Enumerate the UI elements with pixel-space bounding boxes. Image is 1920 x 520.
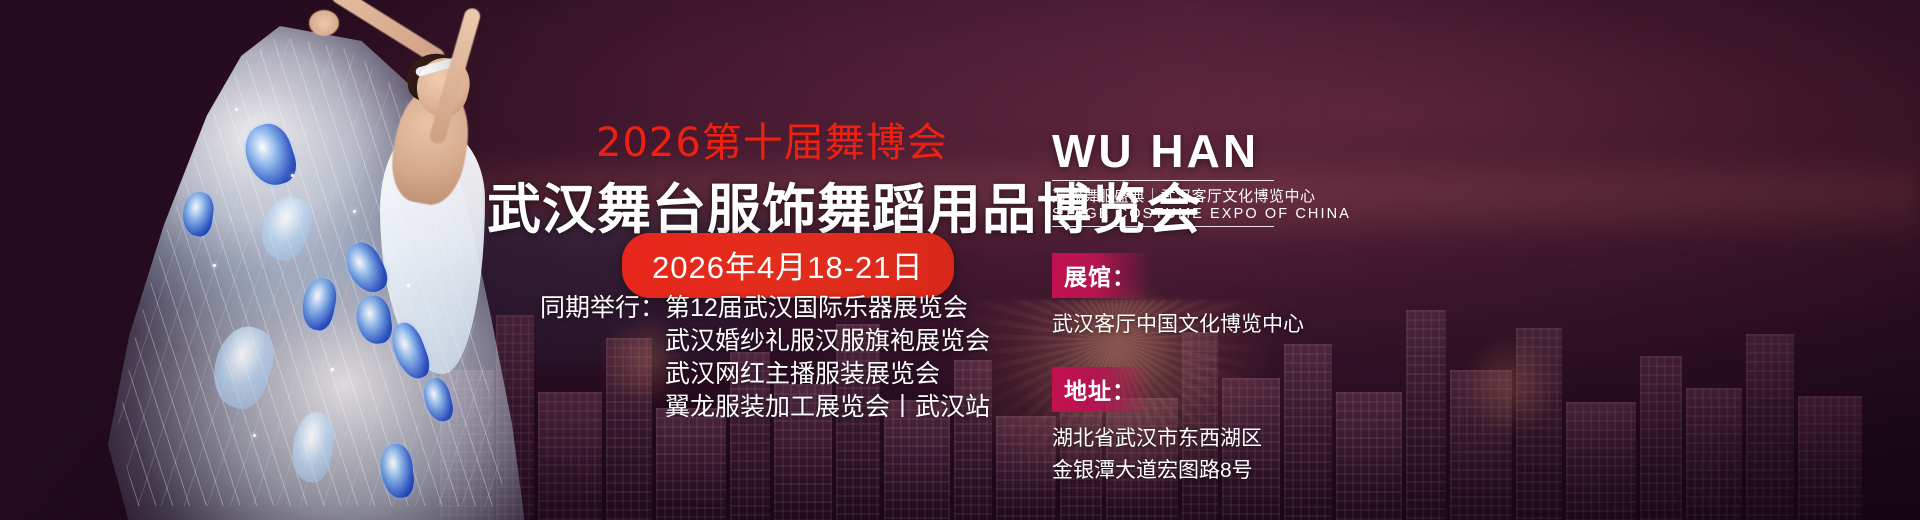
- headline-red: 2026第十届舞博会: [596, 110, 948, 168]
- dancer-image: [95, 0, 565, 520]
- list-item: 武汉婚纱礼服汉服旗袍展览会: [665, 325, 990, 358]
- logo-tagline-cn: 万款舞服盛典｜武汉客厅文化博览中心: [1052, 185, 1352, 206]
- venue-label: 展馆：: [1052, 253, 1152, 298]
- date-badge: 2026年4月18-21日: [622, 233, 954, 298]
- concurrent-events-block: 同期举行：第12届武汉国际乐器展览会武汉婚纱礼服汉服旗袍展览会武汉网红主播服装展…: [540, 292, 990, 424]
- info-panel: WU HAN 万款舞服盛典｜武汉客厅文化博览中心 STAGE COSTUME E…: [1052, 128, 1352, 487]
- list-item: 武汉网红主播服装展览会: [665, 358, 990, 391]
- concurrent-events-list: 第12届武汉国际乐器展览会武汉婚纱礼服汉服旗袍展览会武汉网红主播服装展览会翼龙服…: [665, 292, 990, 424]
- concurrent-events-label: 同期举行：: [540, 292, 665, 325]
- address-line-1: 湖北省武汉市东西湖区: [1052, 423, 1352, 455]
- list-item: 翼龙服装加工展览会丨武汉站: [665, 391, 990, 424]
- city-logo-en: WU HAN: [1052, 128, 1352, 174]
- address-line-2: 金银潭大道宏图路8号: [1052, 455, 1352, 487]
- event-banner: 2026第十届舞博会 武汉舞台服饰舞蹈用品博览会 2026年4月18-21日 同…: [0, 0, 1920, 520]
- logo-tagline-en: STAGE COSTUME EXPO OF CHINA: [1052, 206, 1274, 227]
- address-block: 地址： 湖北省武汉市东西湖区 金银潭大道宏图路8号: [1052, 367, 1352, 487]
- venue-block: 展馆： 武汉客厅中国文化博览中心: [1052, 253, 1352, 341]
- address-label: 地址：: [1052, 367, 1152, 412]
- logo-divider-top: [1052, 180, 1274, 181]
- list-item: 第12届武汉国际乐器展览会: [665, 292, 990, 325]
- venue-value: 武汉客厅中国文化博览中心: [1052, 309, 1352, 341]
